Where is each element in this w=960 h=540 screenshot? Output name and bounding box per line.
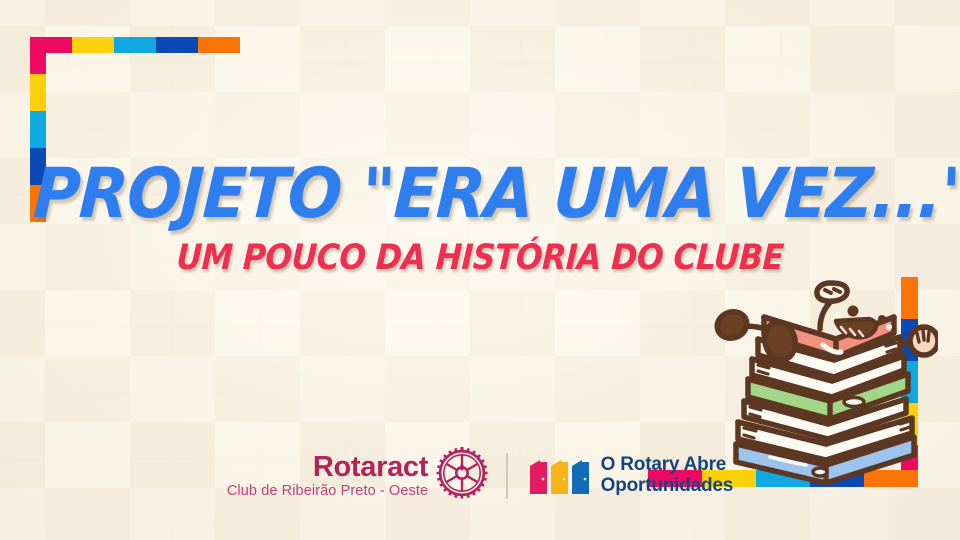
rotary-gear-wheel-icon	[436, 447, 488, 504]
top-left-vertical-bar	[30, 37, 46, 222]
rotaract-wordmark: Rotaract	[227, 452, 428, 482]
rotary-opportunities-logo: O Rotary Abre Oportunidades	[528, 454, 734, 498]
opportunities-line-1: O Rotary Abre	[601, 455, 734, 476]
top-left-horizontal-bar	[30, 37, 240, 53]
logo-divider	[506, 453, 508, 499]
bar-segment-orange	[198, 37, 240, 53]
rotaract-logo: Rotaract Club de Ribeirão Preto - Oeste	[227, 447, 488, 504]
rotaract-club-name: Club de Ribeirão Preto - Oeste	[227, 484, 428, 499]
opportunities-line-2: Oportunidades	[601, 476, 734, 497]
bar-segment-magenta	[30, 37, 46, 74]
footer-logos: Rotaract Club de Ribeirão Preto - Oeste	[0, 447, 960, 504]
opportunities-text: O Rotary Abre Oportunidades	[601, 455, 734, 496]
bar-segment-blue	[30, 148, 46, 185]
bar-segment-cyan	[30, 111, 46, 148]
bar-segment-blue	[156, 37, 198, 53]
rotaract-text: Rotaract Club de Ribeirão Preto - Oeste	[227, 452, 428, 500]
bar-segment-cyan	[114, 37, 156, 53]
bar-segment-yellow	[30, 74, 46, 111]
slide-canvas: PROJETO "ERA UMA VEZ..." UM POUCO DA HIS…	[0, 0, 960, 540]
three-open-doors-icon	[528, 454, 590, 498]
bar-segment-orange	[30, 185, 46, 222]
bar-segment-yellow	[72, 37, 114, 53]
